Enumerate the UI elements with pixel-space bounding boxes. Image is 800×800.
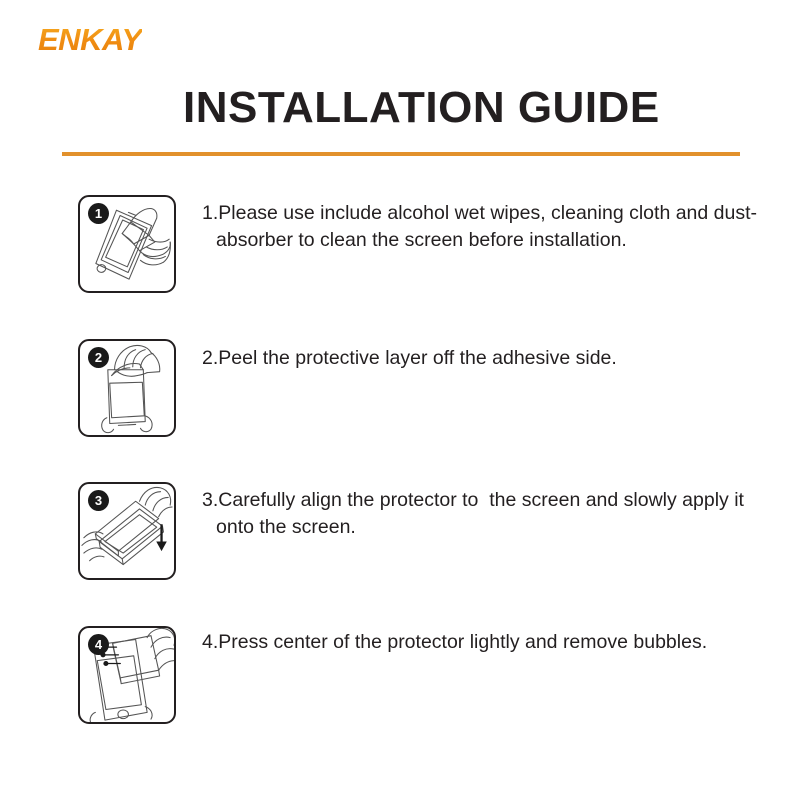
step-1-number-badge: 1 (88, 203, 109, 224)
step-4-number-badge: 4 (88, 634, 109, 655)
installation-guide-page: ENKAY INSTALLATION GUIDE 1 (0, 0, 800, 800)
enkay-logo: ENKAY (38, 24, 142, 55)
page-title: INSTALLATION GUIDE (183, 84, 660, 132)
step-4-text: 4.Press center of the protector lightly … (202, 629, 776, 656)
step-4-illustration-box: 4 (78, 626, 176, 724)
step-1-illustration-box: 1 (78, 195, 176, 293)
step-2-illustration-box: 2 (78, 339, 176, 437)
header-divider (62, 152, 740, 156)
step-2-number-badge: 2 (88, 347, 109, 368)
step-3-text: 3.Carefully align the protector to the s… (202, 487, 776, 540)
step-2-text: 2.Peel the protective layer off the adhe… (202, 345, 776, 372)
step-1-text: 1.Please use include alcohol wet wipes, … (202, 200, 776, 253)
step-3-number-badge: 3 (88, 490, 109, 511)
step-3-illustration-box: 3 (78, 482, 176, 580)
